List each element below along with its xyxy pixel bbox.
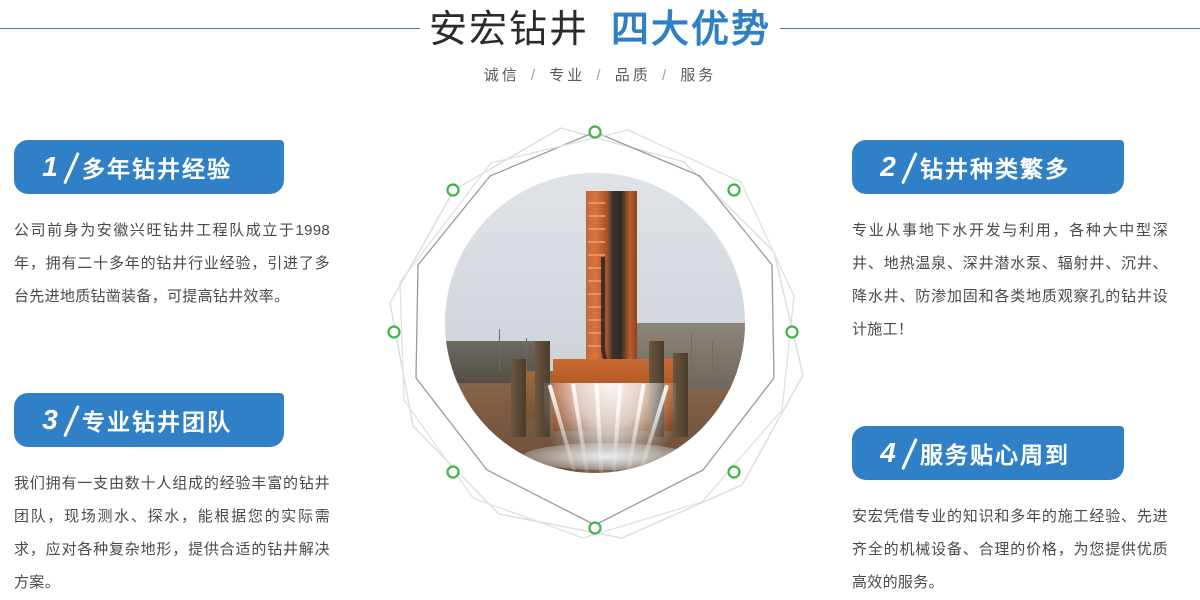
feature-card-4: 4 服务贴心周到 安宏凭借专业的知识和多年的施工经验、先进齐全的机械设备、合理的…: [852, 426, 1182, 599]
number-slash-icon: [901, 438, 917, 470]
number-slash-icon: [63, 405, 79, 437]
feature-body-4: 安宏凭借专业的知识和多年的施工经验、先进齐全的机械设备、合理的价格，为您提供优质…: [852, 500, 1168, 599]
feature-number-4: 4: [880, 439, 896, 467]
page-title: 安宏钻井 四大优势: [0, 8, 1200, 52]
number-slash-icon: [63, 152, 79, 184]
feature-card-1: 1 多年钻井经验 公司前身为安徽兴旺钻井工程队成立于1998年，拥有二十多年的钻…: [14, 140, 344, 313]
feature-number-3: 3: [42, 406, 58, 434]
subtitle-item-3: 服务: [680, 67, 716, 84]
feature-title-4: 服务贴心周到: [920, 436, 1070, 470]
center-graphic: [370, 110, 820, 570]
photo-water-puddle: [523, 443, 691, 470]
photo-tree-2: [526, 338, 527, 371]
title-company: 安宏钻井: [429, 8, 589, 52]
subtitle-separator-0: /: [527, 67, 542, 84]
subtitle-separator-2: /: [658, 67, 673, 84]
title-highlight: 四大优势: [611, 8, 771, 52]
photo-scene: [445, 173, 745, 473]
feature-title-1: 多年钻井经验: [82, 150, 232, 184]
feature-body-1: 公司前身为安徽兴旺钻井工程队成立于1998年，拥有二十多年的钻井行业经验，引进了…: [14, 214, 330, 313]
photo-tree-3: [691, 332, 692, 371]
feature-card-3: 3 专业钻井团队 我们拥有一支由数十人组成的经验丰富的钻井团队，现场测水、探水，…: [14, 393, 344, 599]
photo-outrigger-left-2: [511, 359, 526, 437]
photo-tree-1: [499, 329, 500, 371]
page-root: 安宏钻井 四大优势 诚信 / 专业 / 品质 / 服务 1 多年钻井经验 公司前…: [0, 0, 1200, 600]
feature-badge-3[interactable]: 3 专业钻井团队: [14, 393, 284, 447]
feature-number-3-wrap: 3: [30, 400, 70, 440]
feature-card-2: 2 钻井种类繁多 专业从事地下水开发与利用，各种大中型深井、地热温泉、深井潜水泵…: [852, 140, 1182, 346]
feature-number-4-wrap: 4: [868, 433, 908, 473]
photo-tree-4: [712, 341, 713, 371]
page-header: 安宏钻井 四大优势 诚信 / 专业 / 品质 / 服务: [0, 0, 1200, 110]
subtitle-separator-1: /: [592, 67, 607, 84]
feature-number-1: 1: [42, 153, 58, 181]
feature-column-left: 1 多年钻井经验 公司前身为安徽兴旺钻井工程队成立于1998年，拥有二十多年的钻…: [14, 140, 344, 599]
vertex-marker-top: [590, 127, 601, 138]
feature-badge-1[interactable]: 1 多年钻井经验: [14, 140, 284, 194]
feature-title-2: 钻井种类繁多: [920, 150, 1070, 184]
vertex-marker-right: [787, 327, 798, 338]
vertex-marker-bottom: [590, 523, 601, 534]
feature-number-2: 2: [880, 153, 896, 181]
feature-number-1-wrap: 1: [30, 147, 70, 187]
feature-badge-2[interactable]: 2 钻井种类繁多: [852, 140, 1124, 194]
feature-title-3: 专业钻井团队: [82, 403, 232, 437]
feature-badge-4[interactable]: 4 服务贴心周到: [852, 426, 1124, 480]
subtitle-item-0: 诚信: [484, 67, 520, 84]
subtitle-item-1: 专业: [549, 67, 585, 84]
header-subtitle: 诚信 / 专业 / 品质 / 服务: [0, 64, 1200, 85]
feature-body-2: 专业从事地下水开发与利用，各种大中型深井、地热温泉、深井潜水泵、辐射井、沉井、降…: [852, 214, 1168, 346]
feature-column-right: 2 钻井种类繁多 专业从事地下水开发与利用，各种大中型深井、地热温泉、深井潜水泵…: [852, 140, 1182, 599]
subtitle-item-2: 品质: [615, 67, 651, 84]
drilling-rig-photo: [445, 173, 745, 473]
feature-number-2-wrap: 2: [868, 147, 908, 187]
number-slash-icon: [901, 152, 917, 184]
feature-body-3: 我们拥有一支由数十人组成的经验丰富的钻井团队，现场测水、探水，能根据您的实际需求…: [14, 467, 330, 599]
vertex-marker-left: [389, 327, 400, 338]
